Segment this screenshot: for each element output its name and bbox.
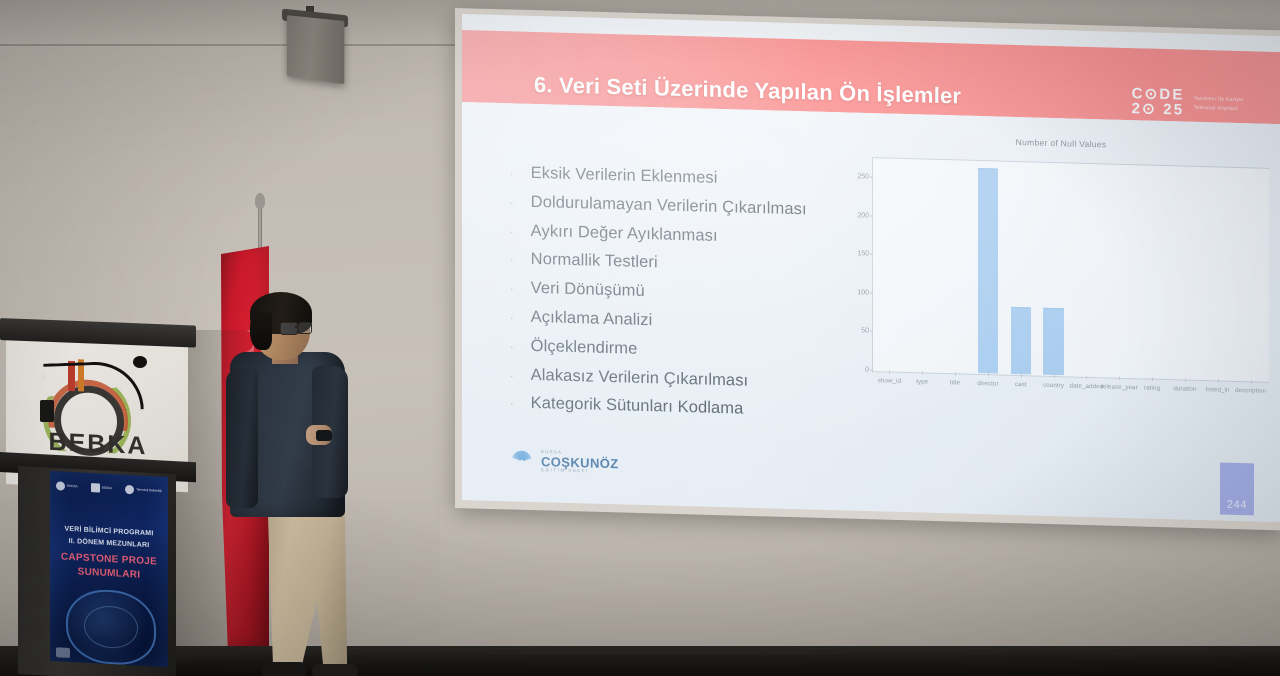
bullet-marker-icon: ·: [510, 313, 514, 324]
chart-x-tick-mark: [1119, 377, 1120, 380]
chart-x-tick-label: date_added: [1070, 382, 1104, 390]
chart-x-tick-mark: [1185, 379, 1186, 382]
poster-logo-mid: BEBKA: [91, 483, 112, 493]
coskunoz-bottom-text: EĞİTİM VAKFI: [541, 468, 619, 475]
brain-circuit-icon: [66, 588, 156, 667]
chart-x-tick-mark: [1021, 374, 1022, 377]
code-tagline-line2: Teknoloji Köprüsü: [1194, 105, 1244, 112]
page-number: 244: [1227, 499, 1247, 512]
bullet-label: Aykırı Değer Ayıklanması: [531, 221, 718, 245]
chart-y-tick-mark: [870, 331, 873, 332]
code-logo-line2: 2⊙ 25: [1132, 101, 1185, 118]
bullet-marker-icon: ·: [510, 342, 514, 353]
presenter-hair-side: [250, 312, 272, 350]
chart-y-tick-label: 0: [865, 366, 869, 373]
bullet-marker-icon: ·: [510, 284, 514, 295]
poster-logo-right-text: Teknoloji Bakanlığı: [136, 488, 162, 493]
chart-plot-area: 050100150200250: [873, 158, 1267, 381]
code-logo-mark: C⊙DE 2⊙ 25: [1132, 86, 1185, 118]
poster-logo-mid-text: BEBKA: [102, 486, 112, 490]
poster-logo-left: BURSA: [56, 481, 78, 491]
projection-screen: 6. Veri Seti Üzerinde Yapılan Ön İşlemle…: [462, 14, 1280, 522]
poster-footer-logo-icon: [56, 647, 70, 658]
presenter-legs: [262, 492, 348, 674]
poster-logo-left-text: BURSA: [67, 485, 78, 489]
chart-x-tick-label: description: [1235, 387, 1266, 395]
chart-x-tick-label: duration: [1173, 385, 1196, 393]
chart-title: Number of Null Values: [854, 133, 1268, 154]
bullet-marker-icon: ·: [510, 256, 514, 267]
presenter-shoe-left: [262, 662, 306, 676]
chart-x-tick-mark: [1086, 376, 1087, 379]
chart-bar: [978, 168, 998, 374]
poster-logo-right: Teknoloji Bakanlığı: [125, 485, 162, 496]
chart-x-tick-mark: [988, 373, 989, 376]
bebka-small-logo-icon: [91, 483, 100, 492]
chart-x-tick-label: country: [1043, 382, 1064, 390]
chart-x-tick-mark: [889, 371, 890, 374]
chart-bar: [1043, 308, 1063, 375]
chart-y-tick-mark: [870, 292, 873, 293]
bullet-label: Veri Dönüşümü: [531, 279, 645, 301]
bursa-logo-icon: [56, 481, 65, 490]
chart-x-tick-label: title: [950, 379, 960, 386]
chart-x-tick-mark: [1152, 378, 1153, 381]
chart-x-tick-mark: [1218, 379, 1219, 382]
poster-line-2: II. DÖNEM MEZUNLARI: [50, 537, 168, 550]
chart-y-tick-label: 100: [857, 289, 869, 296]
slide-title: 6. Veri Seti Üzerinde Yapılan Ön İşlemle…: [534, 72, 961, 110]
lectern-poster-screen: BURSA BEBKA Teknoloji Bakanlığı VERİ BİL…: [50, 471, 168, 667]
chart-y-tick-mark: [870, 177, 873, 178]
presentation-clicker-icon: [316, 430, 332, 441]
bullet-marker-icon: ·: [510, 400, 514, 411]
bullet-label: Ölçeklendirme: [531, 337, 638, 359]
chart-y-tick-label: 150: [857, 251, 869, 258]
bullet-label: Normallik Testleri: [531, 250, 658, 272]
bullet-marker-icon: ·: [510, 371, 514, 382]
code-2025-logo: C⊙DE 2⊙ 25 Yazılımcı İle Kariyer Teknolo…: [1132, 86, 1244, 120]
chart-x-tick-label: rating: [1144, 384, 1160, 391]
code-logo-tagline: Yazılımcı İle Kariyer Teknoloji Köprüsü: [1194, 96, 1244, 112]
eyeglasses-lens-right: [298, 322, 312, 334]
slide-body: · Eksik Verilerin Eklenmesi · Doldurulam…: [462, 102, 1280, 522]
bullet-label: Açıklama Analizi: [531, 308, 653, 330]
chart-x-tick-label: listed_in: [1206, 386, 1230, 394]
coskunoz-logo: BURSA COŞKUNÖZ EĞİTİM VAKFI: [510, 448, 619, 475]
chart-y-tick-label: 50: [861, 328, 869, 335]
bullet-marker-icon: ·: [510, 198, 514, 209]
chart-y-tick-label: 250: [857, 173, 869, 180]
bullet-marker-icon: ·: [510, 227, 514, 238]
chart-bar: [1011, 307, 1031, 374]
chart-x-tick-label: director: [977, 380, 998, 388]
presenter-arm-left: [226, 368, 258, 508]
presenter-shoe-right: [312, 664, 358, 676]
chart-y-tick-mark: [870, 254, 873, 255]
eyeglasses-icon: [280, 322, 298, 335]
flag-finial: [255, 193, 265, 209]
chart-y-tick-mark: [870, 215, 873, 216]
code-tagline-line1: Yazılımcı İle Kariyer: [1194, 96, 1244, 103]
coskunoz-wordmark: BURSA COŞKUNÖZ EĞİTİM VAKFI: [541, 450, 619, 474]
page-number-badge: 244: [1220, 463, 1254, 516]
null-values-bar-chart: Number of Null Values 050100150200250 sh…: [854, 131, 1268, 414]
chart-x-tick-label: show_id: [878, 377, 901, 385]
ministry-logo-icon: [125, 485, 134, 494]
ceiling-speaker-icon: [287, 15, 344, 84]
starburst-icon: [510, 448, 534, 473]
chart-x-tick-mark: [955, 372, 956, 375]
chart-x-tick-label: type: [916, 378, 928, 385]
eyeglasses-bridge: [295, 326, 299, 328]
chart-x-tick-mark: [922, 371, 923, 374]
poster-logo-row: BURSA BEBKA Teknoloji Bakanlığı: [56, 481, 162, 496]
bullet-list: · Eksik Verilerin Eklenmesi · Doldurulam…: [510, 163, 900, 433]
chart-x-tick-mark: [1251, 380, 1252, 383]
microphone-capsule: [133, 356, 147, 368]
screenshot-root: 6. Veri Seti Üzerinde Yapılan Ön İşlemle…: [0, 0, 1280, 676]
chart-y-tick-label: 200: [857, 212, 869, 219]
chart-x-tick-label: release_year: [1101, 383, 1138, 391]
bullet-marker-icon: ·: [510, 169, 514, 180]
chart-x-tick-label: cast: [1015, 381, 1027, 388]
poster-line-1: VERİ BİLİMCİ PROGRAMI: [50, 525, 168, 538]
bullet-label: Eksik Verilerin Eklenmesi: [531, 164, 718, 188]
chart-x-tick-mark: [1054, 375, 1055, 378]
poster-line-4: SUNUMLARI: [50, 565, 168, 582]
